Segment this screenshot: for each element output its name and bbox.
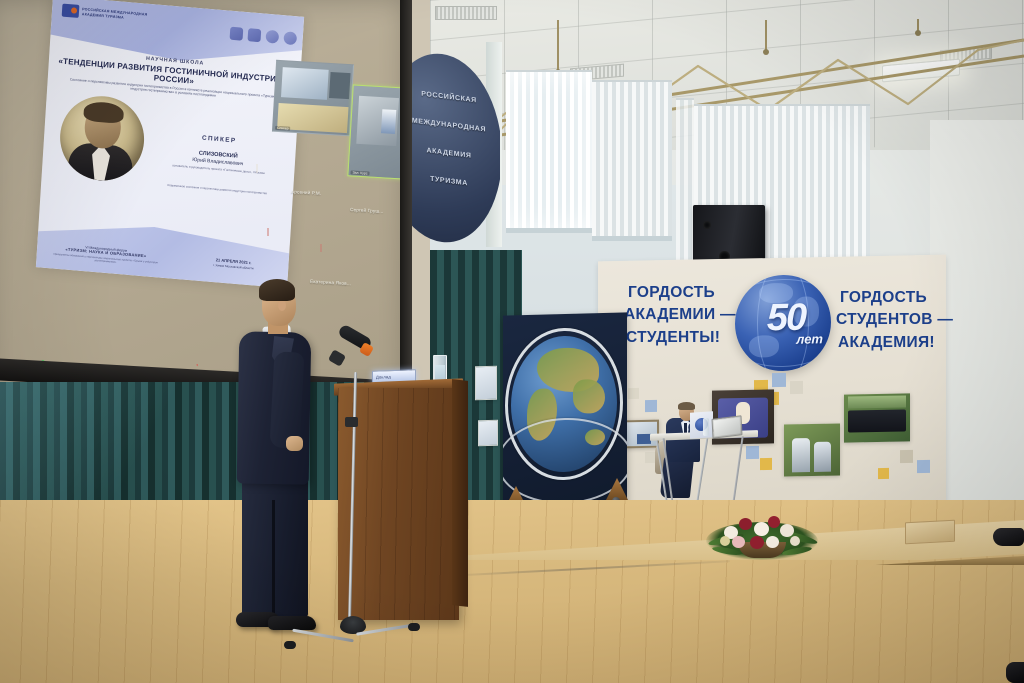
banner-square-12: [878, 468, 889, 479]
window-blinds-center: [592, 80, 672, 238]
chair-leg-right-edge-lower: [1006, 662, 1024, 683]
microphone-foot-left: [284, 641, 296, 649]
banner-left-line-3: СТУДЕНТЫ!: [626, 328, 720, 348]
water-bottle: [703, 418, 709, 436]
vc-participant-name-1: Арсений Р.М.: [291, 189, 322, 196]
flower-bouquet: [706, 500, 818, 562]
partner-logo-4-icon: [283, 31, 297, 45]
podium-display-text: Доклад: [376, 374, 391, 380]
partner-logo-1-icon: [230, 27, 244, 41]
side-picture-top: [475, 366, 497, 401]
banner-square-8: [746, 446, 759, 459]
speaker-portrait: [58, 93, 147, 184]
microphone-stand-clamp: [345, 417, 358, 427]
side-picture-bottom: [478, 420, 498, 447]
bouquet-flower-2: [739, 518, 752, 530]
stage-planks: [0, 500, 1024, 683]
bouquet-flower-6: [732, 536, 745, 548]
banner-left-line-2: АКАДЕМИИ —: [624, 305, 736, 325]
speaker-ear: [278, 300, 286, 311]
partner-logo-3-icon: [265, 30, 279, 44]
banner-left-line-1: ГОРДОСТЬ: [628, 283, 715, 303]
banner-photo-group: [844, 393, 910, 442]
banner-square-10: [900, 450, 913, 463]
banner-right-line-2: СТУДЕНТОВ —: [836, 310, 953, 330]
laptop: [711, 415, 742, 439]
conference-hall-photo: РОССИЙСКАЯ МЕЖДУНАРОДНАЯ АКАДЕМИЯ ТУРИЗМ…: [0, 0, 1024, 683]
banner-square-7: [628, 388, 639, 399]
stage-deck: [0, 500, 1024, 683]
banner-photo-students: [784, 423, 840, 476]
vc-participant-name-2: Сергей Груш...: [350, 207, 384, 214]
microphone-foot-right: [408, 623, 420, 631]
speaker-arm: [270, 351, 305, 448]
stage-step-block: [905, 520, 955, 545]
banner-right-line-3: АКАДЕМИЯ!: [838, 333, 935, 353]
academy-round-sign: РОССИЙСКАЯ МЕЖДУНАРОДНАЯ АКАДЕМИЯ ТУРИЗМ…: [398, 48, 500, 248]
banner-right-line-1: ГОРДОСТЬ: [840, 288, 927, 308]
speaker-leg-split: [272, 500, 275, 618]
vc-tile-speaker[interactable]: Спикер: [272, 60, 354, 136]
window-blinds-left: [506, 70, 592, 230]
laptop-screen: [714, 417, 741, 436]
speaker-cone-top: [703, 221, 711, 229]
bouquet-flower-8: [766, 536, 779, 548]
bouquet-flower-10: [790, 536, 800, 546]
logo-mark-icon: [62, 4, 80, 18]
speaker-hands: [286, 436, 303, 451]
bouquet-flower-7: [750, 536, 764, 549]
banner-square-3: [790, 381, 803, 394]
desk-flag: [690, 411, 713, 439]
banner-square-11: [917, 460, 930, 473]
poster-orbit-ring-2: [503, 416, 627, 506]
speaker-shoe-right: [268, 616, 316, 630]
emblem-word: лет: [796, 331, 823, 347]
screen-frame-right: [400, 0, 412, 392]
chair-leg-right-edge: [993, 528, 1024, 546]
bouquet-flower-9: [720, 536, 730, 546]
window-blinds-partition: [676, 98, 694, 268]
vc-participant-name-3: Екатерина Яков...: [310, 279, 352, 286]
anniversary-emblem: 50 лет: [735, 274, 831, 372]
bouquet-flower-5: [780, 524, 794, 537]
speaker-hair: [259, 279, 295, 301]
earth-globe-poster: [503, 312, 627, 511]
moderator-hair: [678, 402, 695, 410]
partner-logo-2-icon: [247, 28, 261, 42]
podium-side-panel: [452, 379, 468, 607]
banner-square-2: [772, 373, 786, 387]
bouquet-flower-3: [754, 522, 769, 536]
vc-label-active: Зал. Курс: [350, 170, 369, 175]
window-sill-left: [506, 228, 592, 233]
banner-square-6: [645, 400, 657, 412]
banner-square-9: [760, 458, 772, 470]
bouquet-flower-4: [768, 516, 780, 528]
window-sill-center: [592, 236, 672, 241]
participants-badge: 5: [197, 363, 199, 367]
vc-label-speaker: Спикер: [275, 126, 291, 131]
speaker-trousers: [242, 470, 308, 618]
